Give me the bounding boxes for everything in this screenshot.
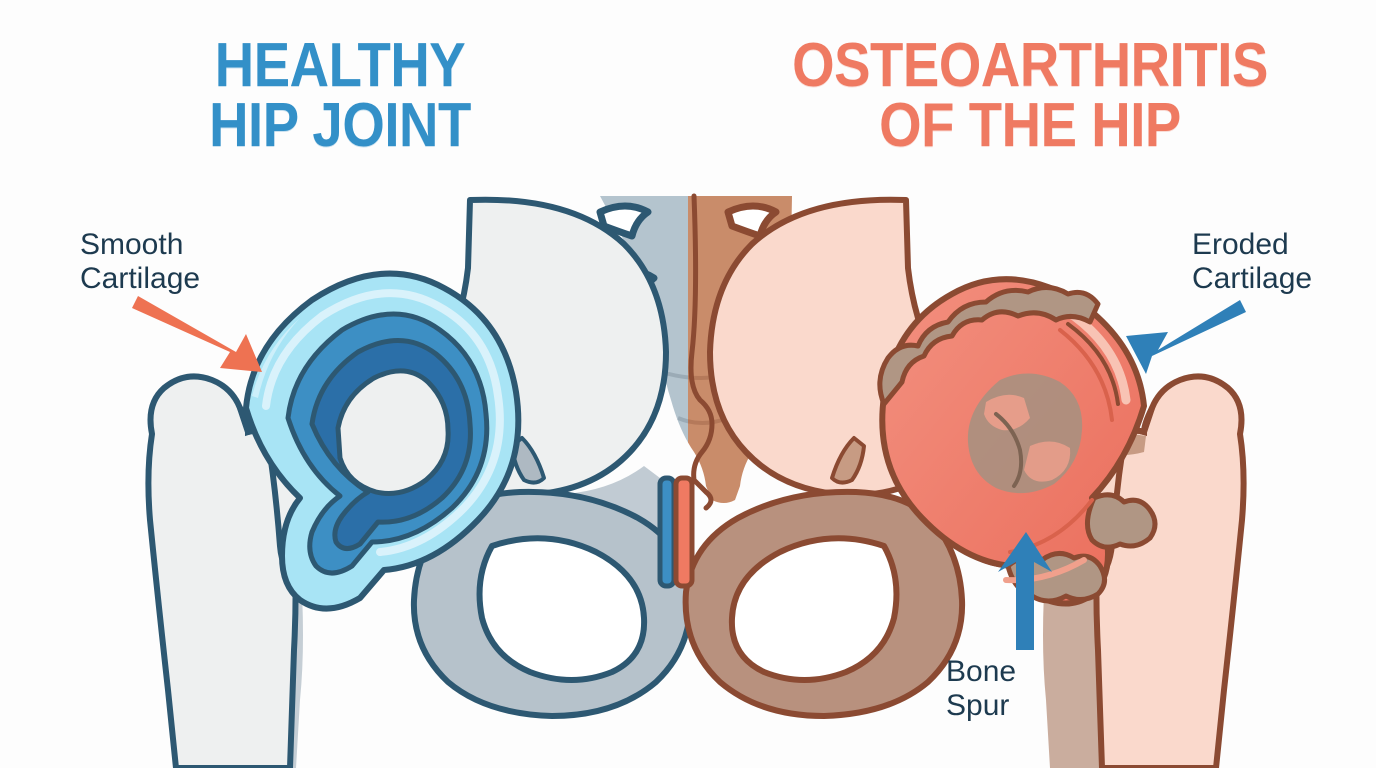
symphysis-left-disc [660,478,674,586]
illustration-canvas: HEALTHY HIP JOINT OSTEOARTHRITIS OF THE … [0,0,1376,768]
label-smooth-cartilage: Smooth Cartilage [80,228,200,295]
osteophyte-lateral [1087,495,1155,547]
label-bone-spur: Bone Spur [946,655,1016,722]
title-healthy-hip-joint: HEALTHY HIP JOINT [146,36,533,155]
pubic-symphysis-group [660,478,692,586]
symphysis-right-disc [676,478,692,586]
label-eroded-cartilage: Eroded Cartilage [1192,228,1312,295]
title-osteoarthritis-of-the-hip: OSTEOARTHRITIS OF THE HIP [740,36,1321,155]
